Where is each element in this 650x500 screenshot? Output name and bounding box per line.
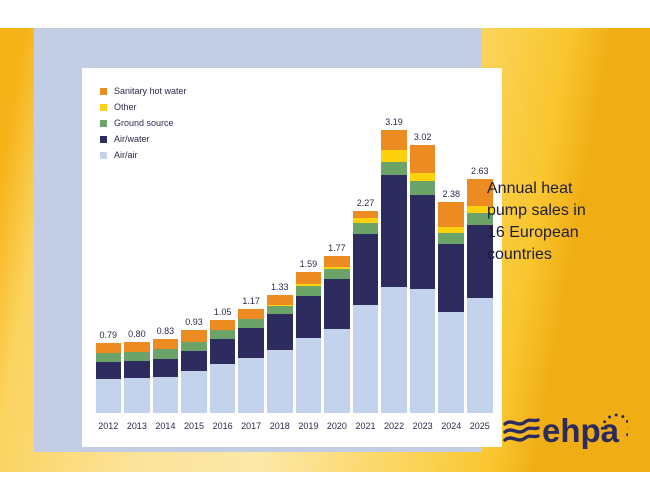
bar-segment bbox=[267, 350, 293, 413]
bar-segment bbox=[181, 330, 207, 342]
bar-column-2013[interactable]: 0.80 bbox=[124, 98, 150, 413]
bar-segment bbox=[438, 202, 464, 228]
bar-value-label: 0.80 bbox=[128, 330, 146, 339]
slide-title-line: countries bbox=[487, 244, 627, 266]
bar-segment bbox=[296, 286, 322, 296]
ehpa-logo-svg: ehpa bbox=[503, 406, 628, 456]
bar-segment bbox=[267, 306, 293, 315]
bar-value-label: 1.05 bbox=[214, 308, 232, 317]
bar-segment bbox=[181, 342, 207, 351]
bar-stack bbox=[124, 342, 150, 413]
bar-column-2017[interactable]: 1.17 bbox=[238, 98, 264, 413]
bar-column-2014[interactable]: 0.83 bbox=[153, 98, 179, 413]
bar-stack bbox=[438, 202, 464, 413]
x-axis-tick-2023: 2023 bbox=[410, 417, 436, 435]
bar-segment bbox=[181, 371, 207, 413]
x-axis-tick-2012: 2012 bbox=[96, 417, 122, 435]
chart-panel: Sanitary hot waterOtherGround sourceAir/… bbox=[82, 68, 502, 447]
bar-column-2022[interactable]: 3.19 bbox=[381, 98, 407, 413]
bar-segment bbox=[296, 338, 322, 413]
bar-value-label: 2.38 bbox=[442, 190, 460, 199]
bar-segment bbox=[381, 162, 407, 175]
bar-segment bbox=[324, 329, 350, 412]
bar-segment bbox=[381, 150, 407, 162]
bar-column-2012[interactable]: 0.79 bbox=[96, 98, 122, 413]
bar-segment bbox=[96, 353, 122, 363]
chart-card: Sanitary hot waterOtherGround sourceAir/… bbox=[34, 28, 482, 452]
bar-segment bbox=[96, 379, 122, 413]
bar-column-2023[interactable]: 3.02 bbox=[410, 98, 436, 413]
bar-segment bbox=[153, 339, 179, 349]
bar-value-label: 2.63 bbox=[471, 167, 489, 176]
bar-column-2020[interactable]: 1.77 bbox=[324, 98, 350, 413]
bar-segment bbox=[353, 223, 379, 235]
x-axis-labels: 2012201320142015201620172018201920202021… bbox=[90, 417, 498, 435]
bar-segment bbox=[96, 343, 122, 353]
bar-segment bbox=[210, 320, 236, 331]
bar-segment bbox=[124, 342, 150, 352]
x-axis-tick-2025: 2025 bbox=[467, 417, 493, 435]
x-axis-tick-2024: 2024 bbox=[438, 417, 464, 435]
bar-segment bbox=[410, 173, 436, 181]
slide-title-line: Annual heat bbox=[487, 178, 627, 200]
slide-title-line: 16 European bbox=[487, 222, 627, 244]
bar-segment bbox=[238, 358, 264, 413]
bar-segment bbox=[438, 244, 464, 312]
bar-column-2024[interactable]: 2.38 bbox=[438, 98, 464, 413]
bar-segment bbox=[438, 312, 464, 413]
ehpa-wordmark: ehpa bbox=[542, 412, 620, 449]
bar-value-label: 0.83 bbox=[157, 327, 175, 336]
bar-segment bbox=[153, 359, 179, 377]
bar-segment bbox=[410, 181, 436, 195]
bar-stack bbox=[410, 145, 436, 413]
bar-segment bbox=[296, 272, 322, 284]
bar-column-2019[interactable]: 1.59 bbox=[296, 98, 322, 413]
bar-segment bbox=[210, 364, 236, 413]
x-axis-tick-2014: 2014 bbox=[153, 417, 179, 435]
bar-segment bbox=[353, 305, 379, 413]
bar-stack bbox=[96, 343, 122, 413]
bar-segment bbox=[467, 298, 493, 413]
slide-canvas: Sanitary hot waterOtherGround sourceAir/… bbox=[0, 28, 650, 472]
bar-value-label: 3.19 bbox=[385, 118, 403, 127]
bar-segment bbox=[124, 352, 150, 362]
bar-segment bbox=[267, 314, 293, 350]
bar-stack bbox=[324, 256, 350, 413]
x-axis-tick-2021: 2021 bbox=[353, 417, 379, 435]
bar-stack bbox=[181, 330, 207, 413]
x-axis-tick-2017: 2017 bbox=[238, 417, 264, 435]
bar-segment bbox=[410, 145, 436, 173]
bar-segment bbox=[210, 339, 236, 364]
bar-segment bbox=[324, 269, 350, 279]
bar-segment bbox=[381, 130, 407, 150]
bar-stack bbox=[353, 211, 379, 413]
bar-segment bbox=[153, 377, 179, 413]
bar-stack bbox=[210, 320, 236, 413]
bar-chart-plot: 0.790.800.830.931.051.171.331.591.772.27… bbox=[90, 98, 498, 413]
bar-value-label: 0.93 bbox=[185, 318, 203, 327]
bar-segment bbox=[410, 195, 436, 288]
bar-segment bbox=[238, 319, 264, 328]
bar-segment bbox=[296, 296, 322, 339]
bar-value-label: 1.17 bbox=[242, 297, 260, 306]
x-axis-tick-2022: 2022 bbox=[381, 417, 407, 435]
bar-segment bbox=[238, 309, 264, 319]
legend-item-sanitary_hot_water: Sanitary hot water bbox=[100, 84, 187, 99]
slide-title-line: pump sales in bbox=[487, 200, 627, 222]
bar-segment bbox=[210, 330, 236, 339]
bar-segment bbox=[353, 211, 379, 218]
x-axis-tick-2016: 2016 bbox=[210, 417, 236, 435]
bar-value-label: 3.02 bbox=[414, 133, 432, 142]
x-axis-tick-2020: 2020 bbox=[324, 417, 350, 435]
bar-column-2018[interactable]: 1.33 bbox=[267, 98, 293, 413]
bar-segment bbox=[381, 175, 407, 287]
slide-title: Annual heatpump sales in16 Europeancount… bbox=[487, 178, 627, 266]
bar-stack bbox=[238, 309, 264, 413]
legend-item-label: Sanitary hot water bbox=[114, 87, 187, 96]
x-axis-tick-2019: 2019 bbox=[296, 417, 322, 435]
bar-segment bbox=[324, 256, 350, 268]
bar-segment bbox=[124, 378, 150, 413]
bar-segment bbox=[324, 279, 350, 330]
x-axis-tick-2015: 2015 bbox=[181, 417, 207, 435]
bar-segment bbox=[153, 349, 179, 359]
bar-segment bbox=[181, 351, 207, 371]
bar-stack bbox=[267, 295, 293, 413]
bar-segment bbox=[96, 362, 122, 379]
bar-segment bbox=[124, 361, 150, 378]
bar-column-2015[interactable]: 0.93 bbox=[181, 98, 207, 413]
bar-segment bbox=[353, 234, 379, 304]
bar-value-label: 0.79 bbox=[100, 331, 118, 340]
bar-value-label: 1.33 bbox=[271, 283, 289, 292]
x-axis-tick-2018: 2018 bbox=[267, 417, 293, 435]
ehpa-logo: ehpa bbox=[503, 406, 628, 456]
bar-segment bbox=[267, 295, 293, 305]
bar-value-label: 1.59 bbox=[300, 260, 318, 269]
x-axis-tick-2013: 2013 bbox=[124, 417, 150, 435]
bar-stack bbox=[296, 272, 322, 413]
bar-segment bbox=[238, 328, 264, 358]
bar-stack bbox=[381, 130, 407, 413]
bar-column-2016[interactable]: 1.05 bbox=[210, 98, 236, 413]
bar-segment bbox=[438, 233, 464, 245]
wave-icon bbox=[505, 420, 538, 440]
bar-segment bbox=[410, 289, 436, 413]
bar-value-label: 1.77 bbox=[328, 244, 346, 253]
bar-segment bbox=[381, 287, 407, 413]
bar-stack bbox=[153, 339, 179, 413]
bar-value-label: 2.27 bbox=[357, 199, 375, 208]
legend-swatch-icon bbox=[100, 88, 107, 95]
bar-column-2021[interactable]: 2.27 bbox=[353, 98, 379, 413]
